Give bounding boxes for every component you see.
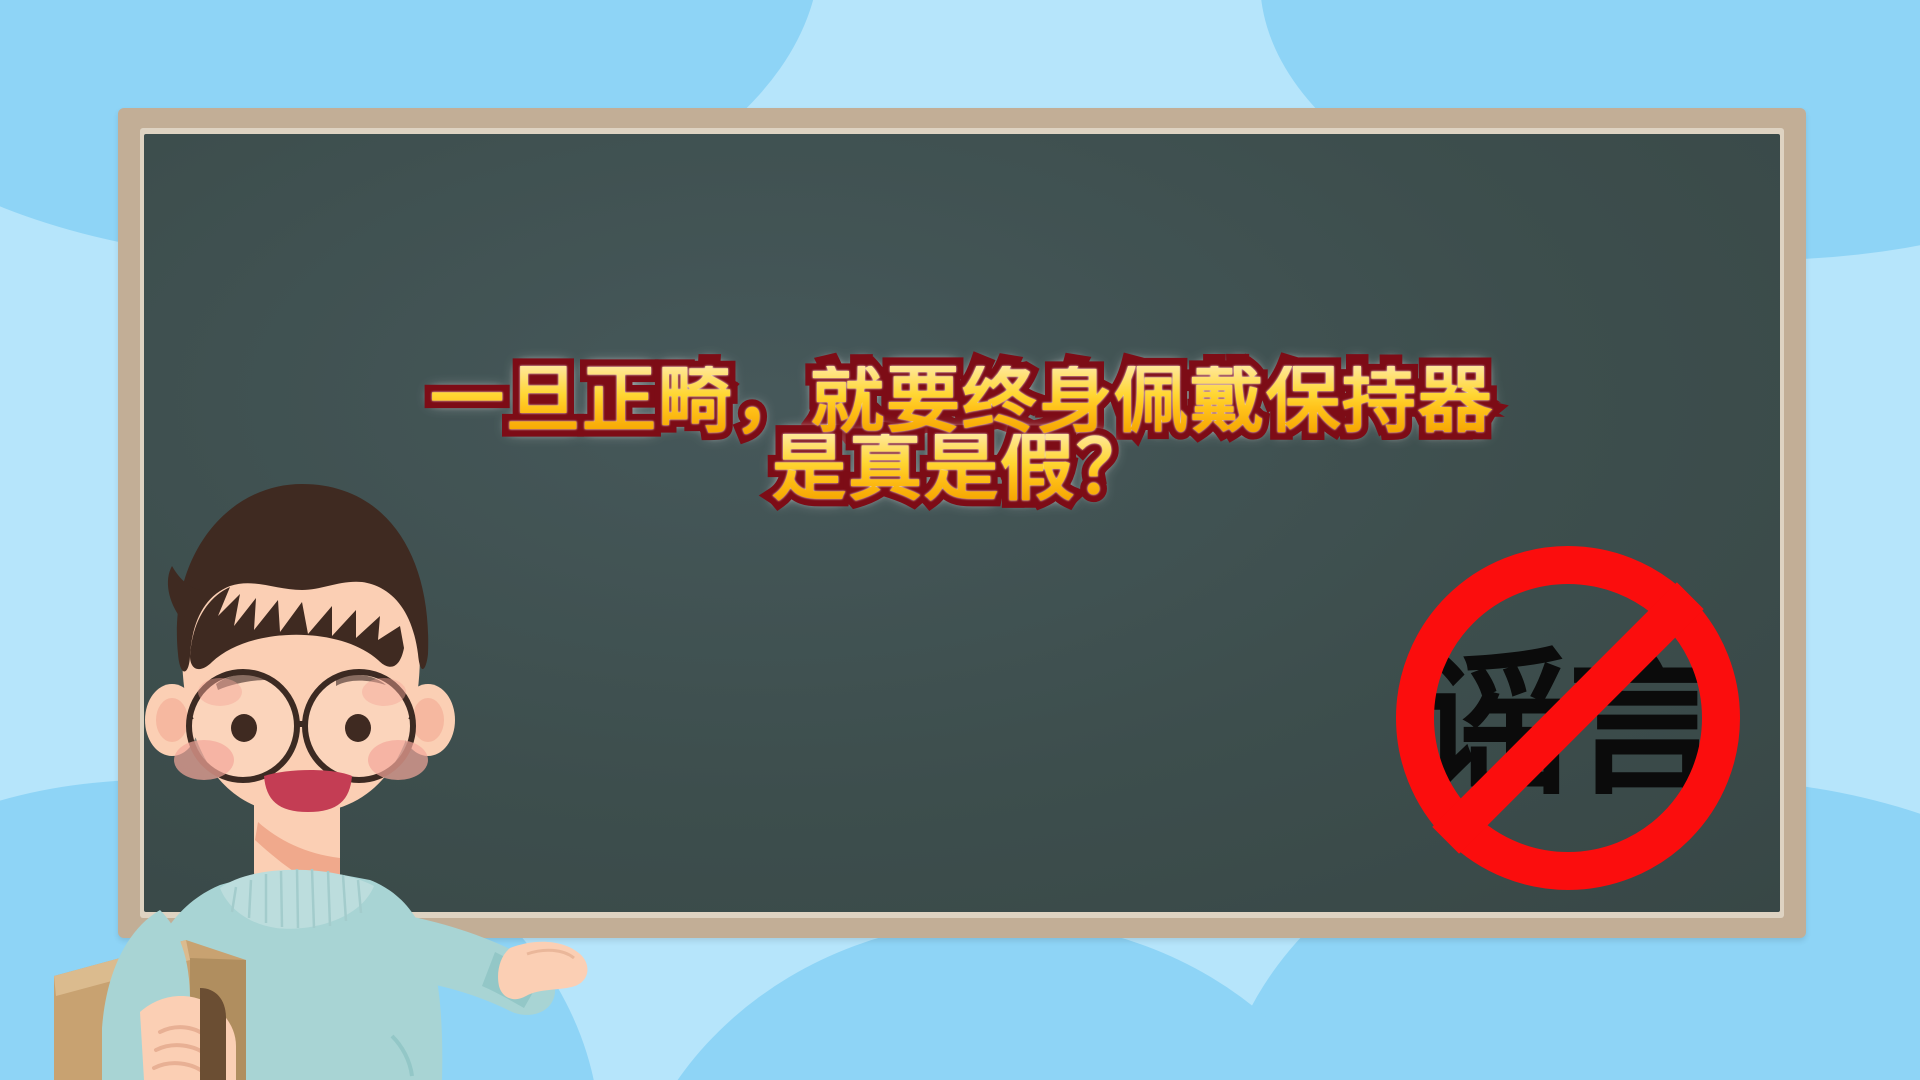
left-temple-blush: [198, 678, 242, 706]
rumor-stamp: 谣言: [1378, 528, 1758, 908]
right-ear-inner: [412, 698, 444, 742]
right-temple-blush: [362, 678, 406, 706]
headline-line-1-wrap: 一旦正畸，就要终身佩戴保持器 一旦正畸，就要终身佩戴保持器: [144, 366, 1780, 434]
headline-line-1: 一旦正畸，就要终身佩戴保持器: [144, 366, 1780, 434]
left-ear-inner: [156, 698, 188, 742]
left-blush: [174, 740, 234, 780]
teacher-character-illustration: [40, 440, 600, 1080]
character-svg: [40, 440, 600, 1080]
left-eye: [231, 714, 257, 742]
headline-line-1-outline: 一旦正畸，就要终身佩戴保持器: [144, 366, 1780, 434]
book-bookmark: [200, 988, 226, 1080]
glasses-left-temple: [189, 716, 192, 718]
glasses-right-temple: [410, 716, 413, 718]
right-eye: [345, 714, 371, 742]
right-blush: [368, 740, 428, 780]
